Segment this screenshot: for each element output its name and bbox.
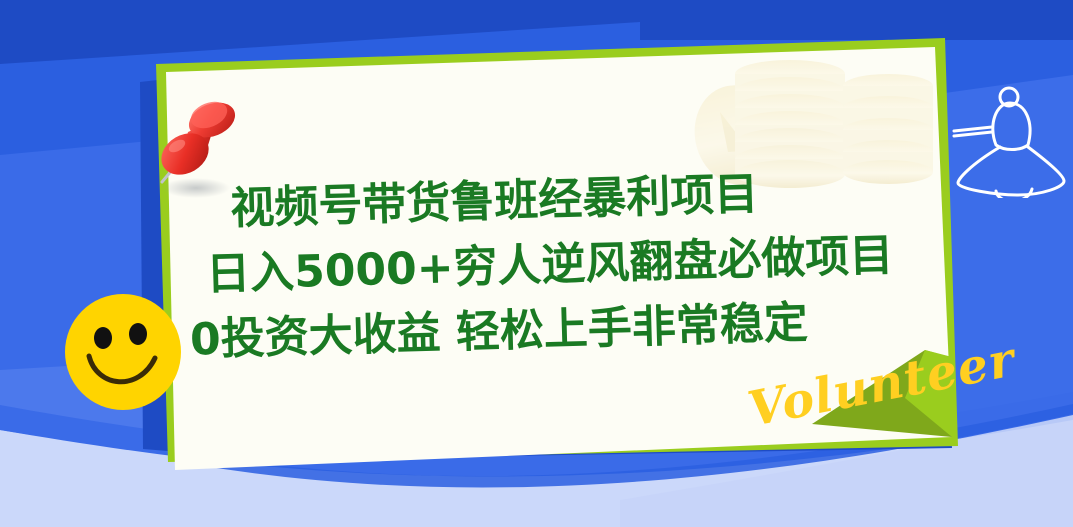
smiley-eye-left (94, 327, 112, 349)
smiley-circle (65, 294, 181, 410)
smiley-eye-right (129, 323, 147, 345)
poster-card-svg (0, 0, 1073, 527)
smiley-face-icon-svg (63, 292, 183, 412)
red-pushpin-icon (152, 96, 244, 200)
coin (843, 160, 933, 184)
pushpin-shadow (162, 178, 230, 198)
coin (735, 160, 845, 188)
smiley-face-icon (63, 292, 183, 412)
red-pushpin-icon-svg (152, 96, 244, 200)
poster-canvas: 视频号带货鲁班经暴利项目 日入5000+穷人逆风翻盘必做项目 0投资大收益 轻松… (0, 0, 1073, 527)
poster-card (0, 0, 1073, 527)
